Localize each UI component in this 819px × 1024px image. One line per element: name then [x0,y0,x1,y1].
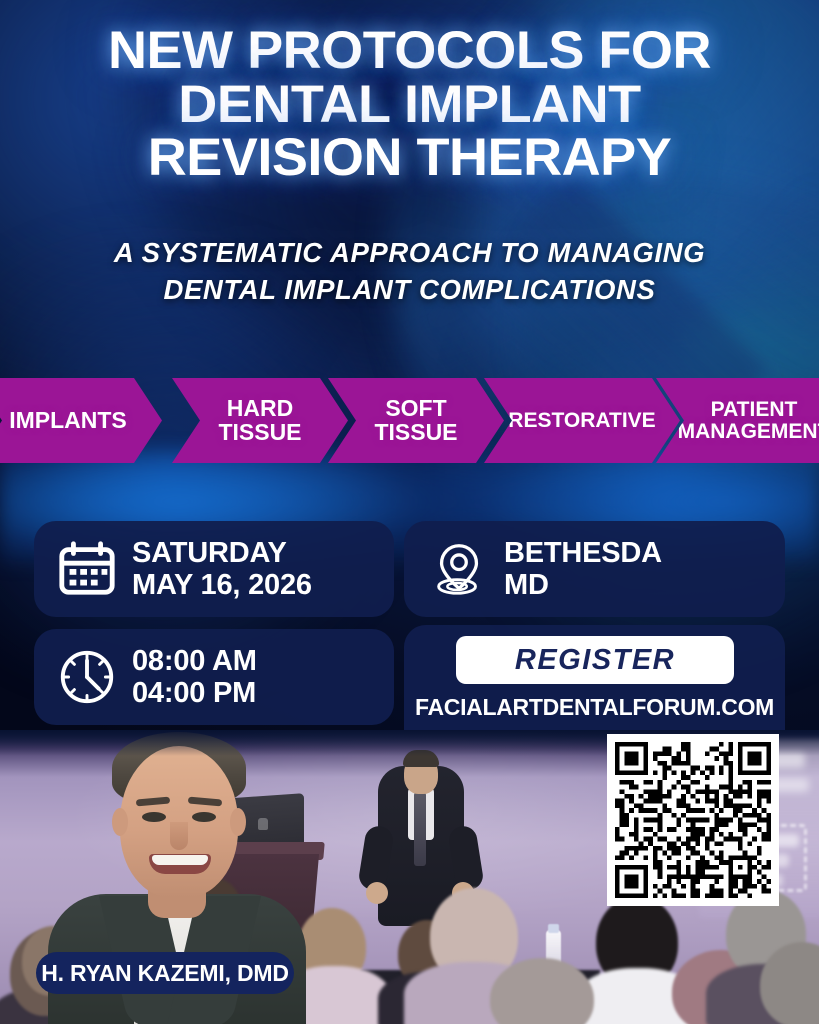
subtitle-line-2: DENTAL IMPLANT COMPLICATIONS [30,271,789,308]
topic-label: RESTORATIVE [508,409,655,432]
date-text: SATURDAY MAY 16, 2026 [132,537,312,602]
speaker-name-badge: H. RYAN KAZEMI, DMD [36,952,294,994]
location-line-2: MD [504,569,662,601]
portrait-eye [142,812,166,822]
date-card: SATURDAY MAY 16, 2026 [34,521,394,617]
topic-chevron-implants: IMPLANTS [0,378,162,463]
location-card: BETHESDA MD [404,521,785,617]
topic-label: IMPLANTS [9,407,127,433]
title-line-1: NEW PROTOCOLS FOR [18,24,800,78]
subtitle-line-1: A SYSTEMATIC APPROACH TO MANAGING [30,234,789,271]
registration-url[interactable]: FACIALARTDENTALFORUM.COM [404,694,785,721]
topic-label: SOFT [385,395,446,421]
qr-code-svg [615,742,771,898]
portrait-ear [112,808,128,836]
event-poster: NEW PROTOCOLS FOR DENTAL IMPLANT REVISIO… [0,0,819,1024]
portrait-teeth [152,855,208,865]
title-line-3: REVISION THERAPY [18,131,800,185]
portrait-eye [192,812,216,822]
time-card: 08:00 AM 04:00 PM [34,629,394,725]
poster-subtitle: A SYSTEMATIC APPROACH TO MANAGING DENTAL… [0,234,819,308]
time-text: 08:00 AM 04:00 PM [132,645,257,710]
title-text: NEW PROTOCOLS FOR DENTAL IMPLANT REVISIO… [18,24,800,185]
time-line-1: 08:00 AM [132,645,257,677]
presenter-hand [366,882,388,904]
topic-chevron-restorative: RESTORATIVE [484,378,680,463]
topic-label: HARD [227,395,293,421]
topic-chevron-soft-tissue: SOFT TISSUE [328,378,504,463]
calendar-icon [56,538,118,600]
portrait-nose [170,822,188,850]
topic-chevron-patient-management: PATIENT MANAGEMENT [656,378,819,463]
time-line-2: 04:00 PM [132,677,257,709]
date-line-2: MAY 16, 2026 [132,569,312,601]
topic-label: PATIENT [711,398,798,421]
topic-label: TISSUE [218,419,301,445]
date-line-1: SATURDAY [132,537,287,569]
topic-chevron-hard-tissue: HARD TISSUE [172,378,348,463]
topic-label: MANAGEMENT [678,420,819,443]
portrait-ear [230,808,246,836]
topic-label: TISSUE [374,419,457,445]
topic-banner: IMPLANTS HARD TISSUE SOFT TISSUE RESTORA… [0,378,819,463]
qr-code-icon[interactable] [607,734,779,906]
location-text: BETHESDA MD [504,537,662,602]
presenter-hair [403,750,439,767]
clock-icon [56,646,118,708]
poster-title: NEW PROTOCOLS FOR DENTAL IMPLANT REVISIO… [0,24,819,185]
title-line-2: DENTAL IMPLANT [18,78,800,132]
water-bottle-cap [548,924,559,933]
map-pin-icon [428,538,490,600]
presenter-tie [414,792,426,866]
register-button[interactable]: REGISTER [456,636,734,684]
location-line-1: BETHESDA [504,537,662,569]
